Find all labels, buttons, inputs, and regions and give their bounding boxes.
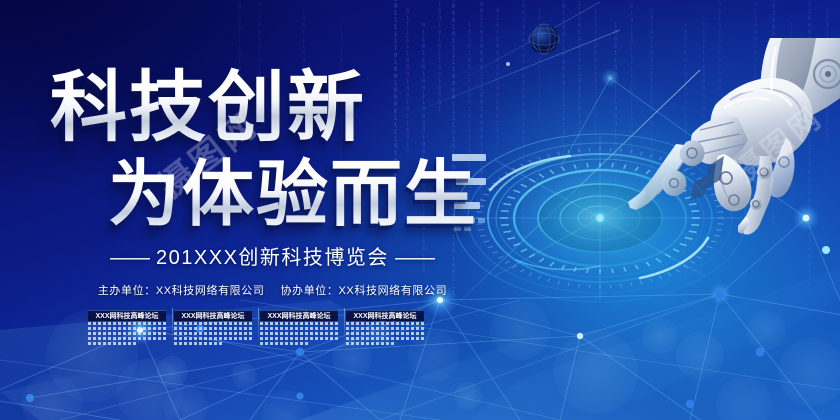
dark-sphere-icon xyxy=(527,22,561,56)
forum-placeholder-row xyxy=(346,337,424,340)
forum-placeholder-row xyxy=(260,327,338,330)
forum-placeholder-row xyxy=(260,332,338,335)
forum-box-placeholder-lines xyxy=(88,321,166,345)
forum-placeholder-row xyxy=(88,342,136,345)
event-subtitle: ——201XXX创新科技博览会—— xyxy=(0,246,545,270)
forum-box-title: XXX网科技高峰论坛 xyxy=(260,310,338,321)
poster-canvas: 1011111101001000011110100101001111110001… xyxy=(0,0,840,420)
forum-box-title: XXX网科技高峰论坛 xyxy=(346,310,424,321)
forum-placeholder-row xyxy=(346,322,424,325)
forum-divider xyxy=(172,308,173,344)
forum-placeholder-row xyxy=(88,332,166,335)
forum-box-title: XXX网科技高峰论坛 xyxy=(88,310,166,321)
forum-box[interactable]: XXX网科技高峰论坛 xyxy=(346,310,424,347)
subtitle-dash-right: —— xyxy=(389,247,441,269)
forum-placeholder-row xyxy=(260,342,308,345)
subtitle-text: 201XXX创新科技博览会 xyxy=(156,247,389,269)
forum-placeholder-row xyxy=(88,337,166,340)
forum-box-placeholder-lines xyxy=(260,321,338,345)
cohost-label: 协办单位： xyxy=(281,285,339,297)
forum-box-placeholder-lines xyxy=(346,321,424,345)
forum-divider xyxy=(344,308,345,344)
forum-box-list: XXX网科技高峰论坛XXX网科技高峰论坛XXX网科技高峰论坛XXX网科技高峰论坛 xyxy=(88,310,424,347)
forum-placeholder-row xyxy=(346,327,424,330)
host-name: XX科技网络有限公司 xyxy=(156,285,265,297)
forum-placeholder-row xyxy=(174,332,252,335)
forum-placeholder-row xyxy=(88,327,166,330)
forum-placeholder-row xyxy=(174,322,252,325)
forum-box-title: XXX网科技高峰论坛 xyxy=(174,310,252,321)
organizer-line: 主办单位：XX科技网络有限公司协办单位：XX科技网络有限公司 xyxy=(0,284,545,298)
forum-placeholder-row xyxy=(346,342,394,345)
forum-placeholder-row xyxy=(174,327,252,330)
forum-box[interactable]: XXX网科技高峰论坛 xyxy=(88,310,166,347)
forum-placeholder-row xyxy=(174,337,252,340)
forum-placeholder-row xyxy=(88,322,166,325)
forum-divider xyxy=(258,308,259,344)
host-label: 主办单位： xyxy=(98,285,156,297)
forum-box[interactable]: XXX网科技高峰论坛 xyxy=(260,310,338,347)
forum-placeholder-row xyxy=(174,342,222,345)
forum-placeholder-row xyxy=(346,332,424,335)
forum-box-placeholder-lines xyxy=(174,321,252,345)
forum-placeholder-row xyxy=(260,337,338,340)
cohost-name: XX科技网络有限公司 xyxy=(339,285,448,297)
forum-box[interactable]: XXX网科技高峰论坛 xyxy=(174,310,252,347)
forum-placeholder-row xyxy=(260,322,338,325)
subtitle-dash-left: —— xyxy=(104,247,156,269)
